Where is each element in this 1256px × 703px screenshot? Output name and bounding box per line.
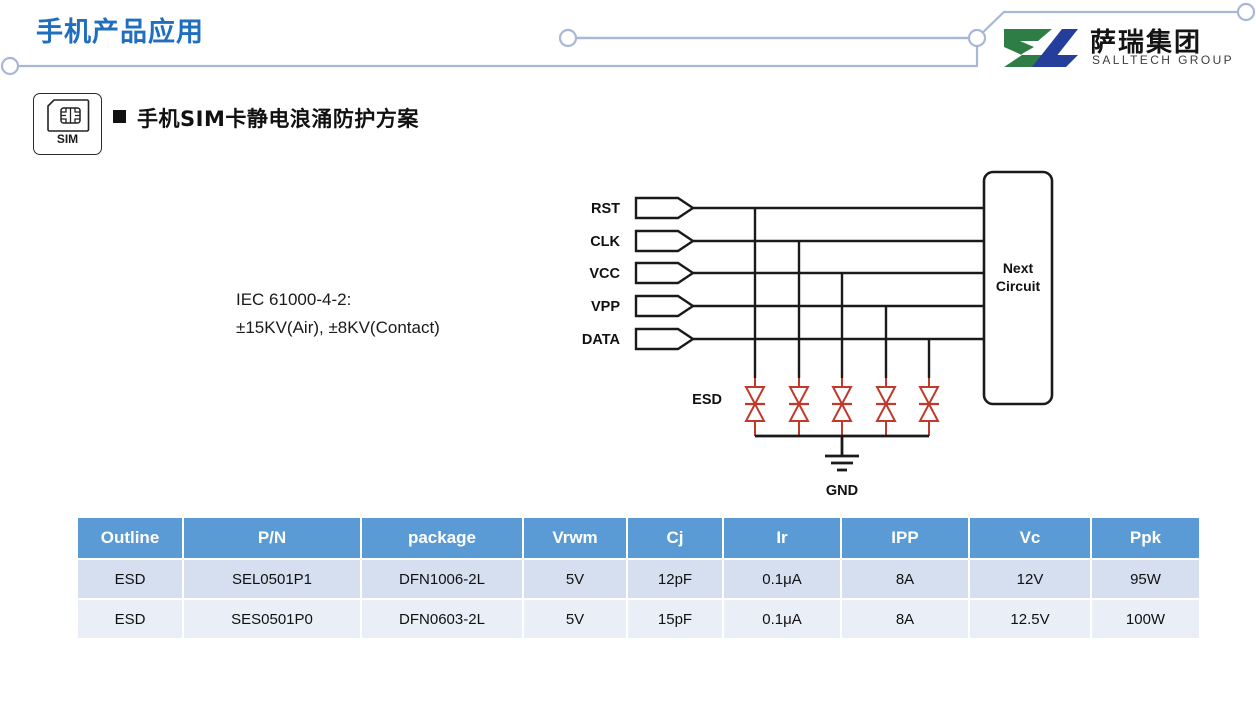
gnd-label: GND	[826, 483, 858, 499]
tvs-diode	[789, 378, 809, 436]
sim-card-badge: SIM	[33, 93, 102, 155]
page-header: 手机产品应用 萨瑞集团 SALLTECH GROUP	[0, 0, 1256, 90]
tvs-diode	[745, 378, 765, 436]
cell-vc: 12.5V	[970, 600, 1090, 638]
tvs-diode	[876, 378, 896, 436]
table-header-row: Outline P/N package Vrwm Cj Ir IPP Vc Pp…	[78, 518, 1199, 558]
cell-ppk: 95W	[1092, 560, 1199, 598]
cell-vrwm: 5V	[524, 600, 626, 638]
connector-arrow-vpp	[636, 296, 693, 316]
company-logo: 萨瑞集团 SALLTECH GROUP	[1000, 22, 1250, 74]
signal-label-data: DATA	[582, 332, 621, 348]
column-header-ir: Ir	[724, 518, 840, 558]
iec-note-line2: ±15KV(Air), ±8KV(Contact)	[236, 314, 440, 342]
column-header-ppk: Ppk	[1092, 518, 1199, 558]
tvs-diode	[919, 378, 939, 436]
cell-pn: SEL0501P1	[184, 560, 360, 598]
cell-ir: 0.1μA	[724, 600, 840, 638]
cell-ipp: 8A	[842, 600, 968, 638]
column-header-vrwm: Vrwm	[524, 518, 626, 558]
cell-vc: 12V	[970, 560, 1090, 598]
connector-arrow-rst	[636, 198, 693, 218]
iec-note-line1: IEC 61000-4-2:	[236, 286, 440, 314]
column-header-cj: Cj	[628, 518, 722, 558]
table-row: ESD SES0501P0 DFN0603-2L 5V 15pF 0.1μA 8…	[78, 600, 1199, 638]
column-header-vc: Vc	[970, 518, 1090, 558]
signal-label-rst: RST	[591, 201, 620, 217]
signal-label-clk: CLK	[590, 234, 620, 250]
section-title: 手机SIM卡静电浪涌防护方案	[137, 103, 419, 133]
sim-badge-label: SIM	[34, 132, 101, 146]
connector-arrow-vcc	[636, 263, 693, 283]
tvs-diode	[832, 378, 852, 436]
esd-label: ESD	[692, 392, 722, 408]
square-bullet-icon	[113, 110, 126, 123]
connector-arrow-data	[636, 329, 693, 349]
cell-vrwm: 5V	[524, 560, 626, 598]
cell-outline: ESD	[78, 600, 182, 638]
column-header-ipp: IPP	[842, 518, 968, 558]
cell-ipp: 8A	[842, 560, 968, 598]
salltech-logo-mark	[1000, 25, 1082, 69]
cell-pn: SES0501P0	[184, 600, 360, 638]
cell-cj: 15pF	[628, 600, 722, 638]
cell-ppk: 100W	[1092, 600, 1199, 638]
cell-ir: 0.1μA	[724, 560, 840, 598]
tvs-diode-group	[745, 378, 939, 436]
signal-label-vpp: VPP	[591, 299, 620, 315]
column-header-package: package	[362, 518, 522, 558]
table-row: ESD SEL0501P1 DFN1006-2L 5V 12pF 0.1μA 8…	[78, 560, 1199, 598]
next-circuit-line1: Next	[1003, 260, 1034, 276]
next-circuit-line2: Circuit	[996, 278, 1041, 294]
specification-table: Outline P/N package Vrwm Cj Ir IPP Vc Pp…	[76, 516, 1201, 640]
sim-card-icon	[43, 99, 93, 133]
iec-standard-note: IEC 61000-4-2: ±15KV(Air), ±8KV(Contact)	[236, 286, 440, 342]
esd-protection-schematic: RST CLK VCC VPP DATA	[560, 160, 1090, 505]
cell-package: DFN0603-2L	[362, 600, 522, 638]
cell-cj: 12pF	[628, 560, 722, 598]
column-header-outline: Outline	[78, 518, 182, 558]
cell-outline: ESD	[78, 560, 182, 598]
signal-label-vcc: VCC	[589, 266, 620, 282]
ground-symbol-icon	[825, 456, 859, 470]
cell-package: DFN1006-2L	[362, 560, 522, 598]
connector-arrow-clk	[636, 231, 693, 251]
logo-name-en: SALLTECH GROUP	[1092, 53, 1234, 67]
column-header-pn: P/N	[184, 518, 360, 558]
